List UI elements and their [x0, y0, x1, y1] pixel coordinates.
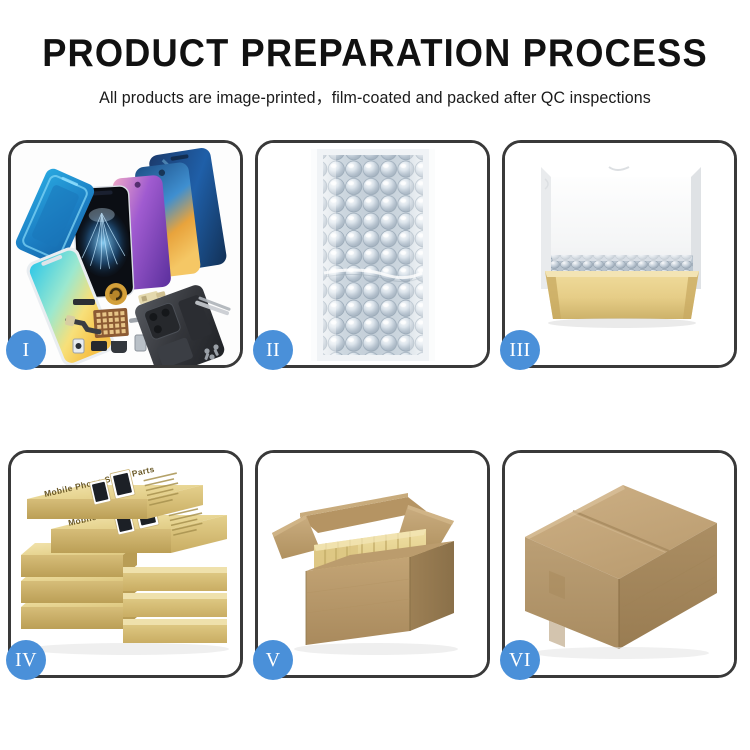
- step-badge-2: II: [253, 330, 293, 370]
- sealed-carton-image: [505, 453, 734, 675]
- step-badge-6: VI: [500, 640, 540, 680]
- bubble-wrap-sheet-image: [258, 143, 487, 365]
- step-card-4[interactable]: Mobile Phone Spare Parts: [8, 450, 243, 678]
- step-badge-5: V: [253, 640, 293, 680]
- page-title: PRODUCT PREPARATION PROCESS: [26, 32, 724, 76]
- stacked-retail-boxes-image: Mobile Phone Spare Parts: [11, 453, 240, 675]
- open-carton-loading-image: [258, 453, 487, 675]
- phone-parts-assortment-image: [11, 143, 240, 365]
- step-card-6[interactable]: VI: [502, 450, 737, 678]
- step-badge-1: I: [6, 330, 46, 370]
- step-badge-3: III: [500, 330, 540, 370]
- step-badge-4: IV: [6, 640, 46, 680]
- step-card-3[interactable]: III: [502, 140, 737, 368]
- process-steps-grid: I: [8, 140, 742, 678]
- page-subtitle: All products are image-printed，film-coat…: [11, 84, 739, 108]
- step-card-1[interactable]: I: [8, 140, 243, 368]
- step-card-5[interactable]: V: [255, 450, 490, 678]
- inner-box-packing-image: [505, 143, 734, 365]
- step-card-2[interactable]: II: [255, 140, 490, 368]
